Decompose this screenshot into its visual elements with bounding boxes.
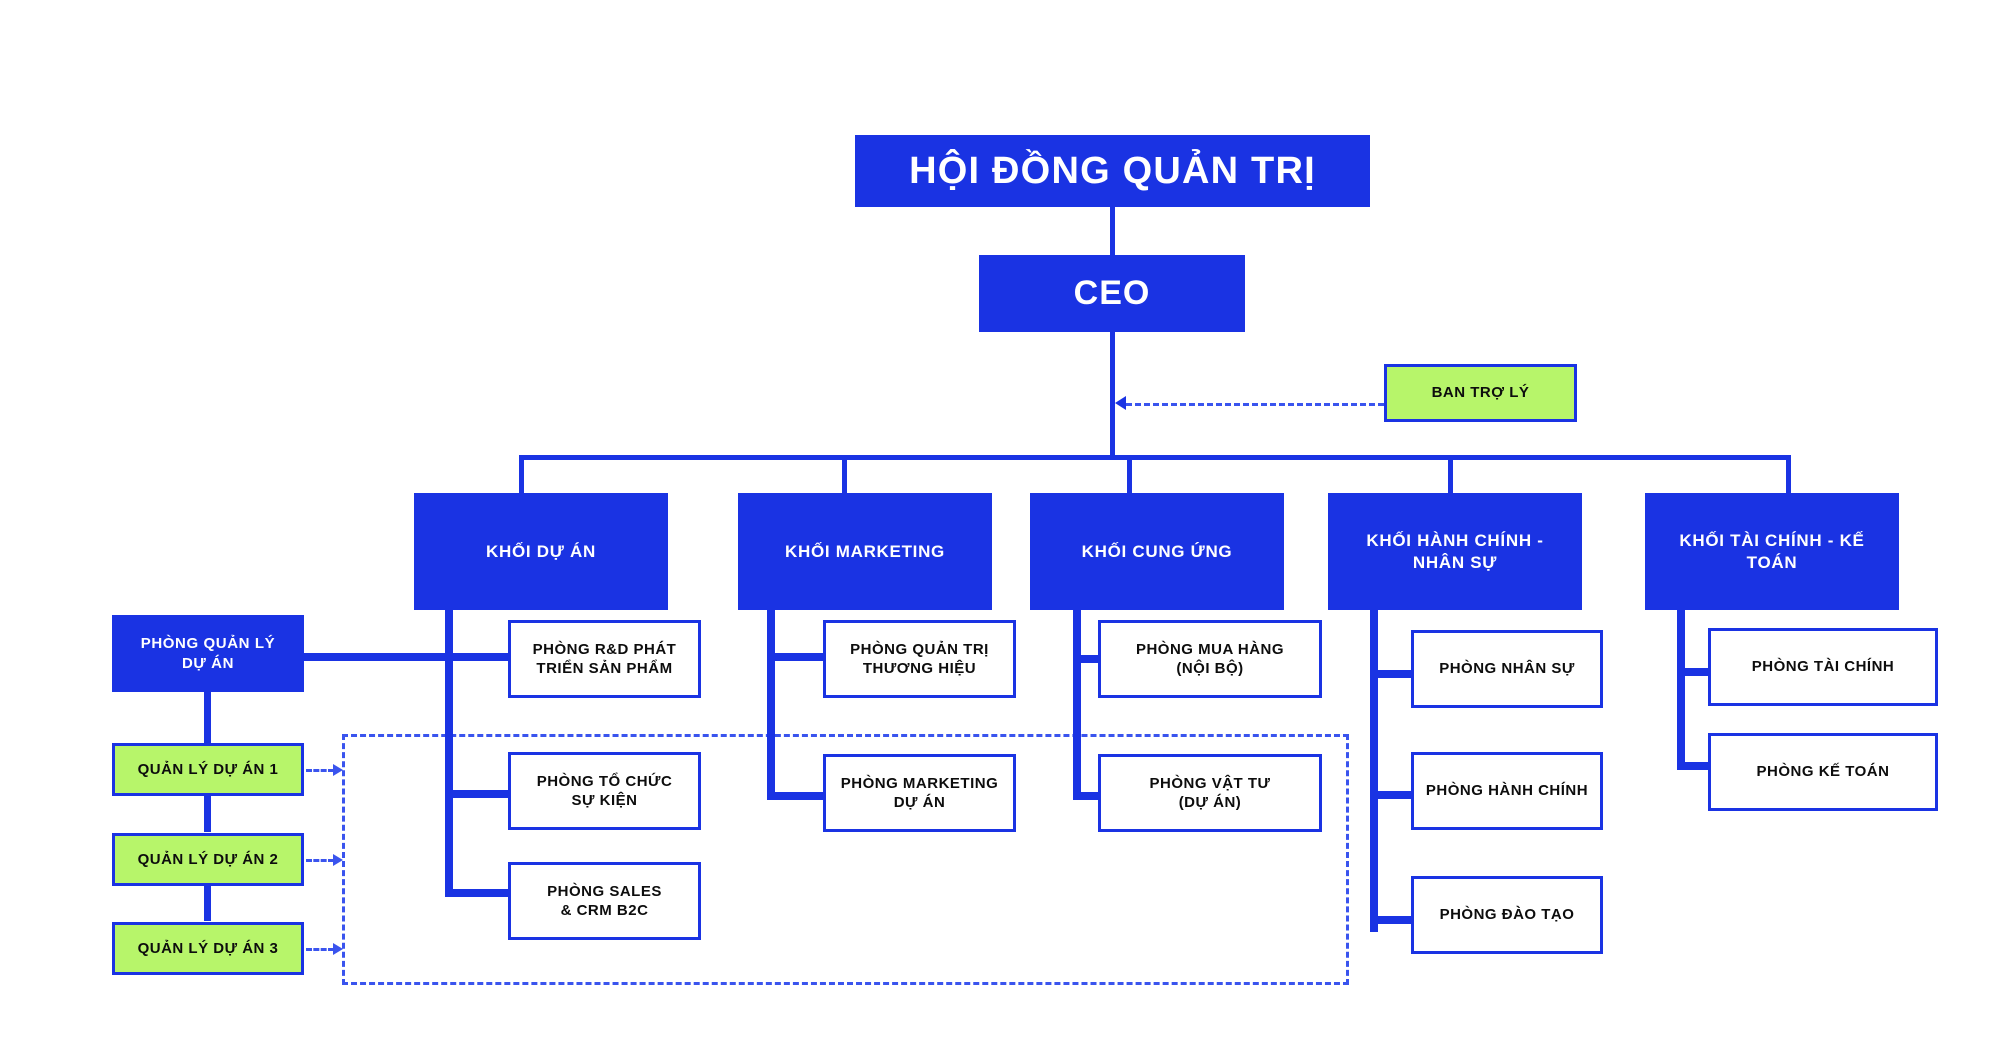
node-label: KHỐI DỰ ÁN	[486, 541, 596, 563]
node-project-manager-2[interactable]: QUẢN LÝ DỰ ÁN 2	[112, 833, 304, 886]
connector-drop-cung-ung	[1127, 455, 1132, 493]
node-ceo[interactable]: CEO	[979, 255, 1245, 332]
node-label: PHÒNG HÀNH CHÍNH	[1426, 781, 1588, 800]
node-label: PHÒNG NHÂN SỰ	[1439, 659, 1575, 678]
connector-assistant-to-ceo	[1126, 403, 1384, 406]
node-dept-rd-phat-trien-san-pham[interactable]: PHÒNG R&D PHÁT TRIỂN SẢN PHẨM	[508, 620, 701, 698]
pm2-arrowhead-icon	[333, 854, 343, 866]
node-label: PHÒNG TỔ CHỨC SỰ KIỆN	[537, 772, 673, 810]
node-label: PHÒNG ĐÀO TẠO	[1440, 905, 1575, 924]
connector-du-an-to-rd	[445, 653, 510, 661]
node-label: PHÒNG R&D PHÁT TRIỂN SẢN PHẨM	[533, 640, 677, 678]
spine-marketing	[767, 610, 775, 800]
connector-hanh-chinh-to-hanh-chinh	[1370, 791, 1414, 799]
node-dept-hanh-chinh[interactable]: PHÒNG HÀNH CHÍNH	[1411, 752, 1603, 830]
node-project-manager-1[interactable]: QUẢN LÝ DỰ ÁN 1	[112, 743, 304, 796]
node-board-of-directors[interactable]: HỘI ĐỒNG QUẢN TRỊ	[855, 135, 1370, 207]
connector-du-an-to-to-chuc-su-kien	[445, 790, 510, 798]
pm1-arrowhead-icon	[333, 764, 343, 776]
node-dept-mua-hang-noi-bo[interactable]: PHÒNG MUA HÀNG (NỘI BỘ)	[1098, 620, 1322, 698]
connector-cung-ung-to-vat-tu	[1073, 792, 1101, 800]
node-dept-sales-crm-b2c[interactable]: PHÒNG SALES & CRM B2C	[508, 862, 701, 940]
connector-marketing-to-quan-tri-thuong-hieu	[767, 653, 825, 661]
connector-marketing-to-marketing-du-an	[767, 792, 825, 800]
connector-drop-du-an	[519, 455, 524, 493]
connector-tai-chinh-to-phong-ke-toan	[1677, 762, 1711, 770]
node-division-du-an[interactable]: KHỐI DỰ ÁN	[414, 493, 668, 610]
connector-drop-hanh-chinh	[1448, 455, 1453, 493]
node-dept-quan-tri-thuong-hieu[interactable]: PHÒNG QUẢN TRỊ THƯƠNG HIỆU	[823, 620, 1016, 698]
spine-tai-chinh	[1677, 610, 1685, 770]
spine-cung-ung	[1073, 610, 1081, 800]
connector-du-an-to-sales-crm	[445, 889, 510, 897]
pm3-arrowhead-icon	[333, 943, 343, 955]
node-label: PHÒNG KẾ TOÁN	[1757, 762, 1890, 781]
node-dept-vat-tu-du-an[interactable]: PHÒNG VẬT TƯ (DỰ ÁN)	[1098, 754, 1322, 832]
connector-division-bus	[519, 455, 1791, 460]
node-division-tai-chinh-ke-toan[interactable]: KHỐI TÀI CHÍNH - KẾ TOÁN	[1645, 493, 1899, 610]
node-dept-marketing-du-an[interactable]: PHÒNG MARKETING DỰ ÁN	[823, 754, 1016, 832]
connector-quan-ly-chain	[204, 692, 211, 743]
node-label: QUẢN LÝ DỰ ÁN 1	[138, 760, 279, 779]
node-dept-nhan-su[interactable]: PHÒNG NHÂN SỰ	[1411, 630, 1603, 708]
connector-pm2-to-scope	[306, 859, 334, 862]
node-label: CEO	[1074, 272, 1151, 316]
node-label: QUẢN LÝ DỰ ÁN 2	[138, 850, 279, 869]
node-division-marketing[interactable]: KHỐI MARKETING	[738, 493, 992, 610]
node-dept-to-chuc-su-kien[interactable]: PHÒNG TỔ CHỨC SỰ KIỆN	[508, 752, 701, 830]
node-dept-phong-quan-ly-du-an[interactable]: PHÒNG QUẢN LÝ DỰ ÁN	[112, 615, 304, 692]
node-dept-tai-chinh[interactable]: PHÒNG TÀI CHÍNH	[1708, 628, 1938, 706]
org-chart-canvas: HỘI ĐỒNG QUẢN TRỊ CEO BAN TRỢ LÝ KHỐI DỰ…	[0, 0, 2000, 1050]
connector-du-an-to-quan-ly-du-an	[300, 653, 453, 661]
connector-hanh-chinh-to-nhan-su	[1370, 670, 1414, 678]
node-assistant-board[interactable]: BAN TRỢ LÝ	[1384, 364, 1577, 422]
node-label: QUẢN LÝ DỰ ÁN 3	[138, 939, 279, 958]
node-division-cung-ung[interactable]: KHỐI CUNG ỨNG	[1030, 493, 1284, 610]
node-label: KHỐI TÀI CHÍNH - KẾ TOÁN	[1679, 530, 1864, 574]
node-label: PHÒNG MARKETING DỰ ÁN	[841, 774, 999, 812]
assistant-arrowhead-icon	[1115, 396, 1126, 410]
connector-pm3-to-scope	[306, 948, 334, 951]
node-label: PHÒNG QUẢN LÝ DỰ ÁN	[141, 634, 275, 672]
spine-hanh-chinh	[1370, 610, 1378, 932]
node-label: HỘI ĐỒNG QUẢN TRỊ	[909, 147, 1316, 196]
node-label: KHỐI HÀNH CHÍNH - NHÂN SỰ	[1366, 530, 1543, 574]
node-label: PHÒNG MUA HÀNG (NỘI BỘ)	[1136, 640, 1284, 678]
connector-pm1-to-scope	[306, 769, 334, 772]
node-dept-dao-tao[interactable]: PHÒNG ĐÀO TẠO	[1411, 876, 1603, 954]
connector-tai-chinh-to-phong-tai-chinh	[1677, 668, 1711, 676]
node-label: PHÒNG TÀI CHÍNH	[1752, 657, 1895, 676]
node-division-hanh-chinh-nhan-su[interactable]: KHỐI HÀNH CHÍNH - NHÂN SỰ	[1328, 493, 1582, 610]
connector-ceo-spine	[1110, 332, 1115, 458]
connector-drop-tai-chinh	[1786, 455, 1791, 493]
node-label: KHỐI MARKETING	[785, 541, 945, 563]
node-label: PHÒNG VẬT TƯ (DỰ ÁN)	[1150, 774, 1271, 812]
connector-hanh-chinh-to-dao-tao	[1370, 916, 1414, 924]
node-dept-ke-toan[interactable]: PHÒNG KẾ TOÁN	[1708, 733, 1938, 811]
node-label: PHÒNG SALES & CRM B2C	[547, 882, 662, 920]
node-label: BAN TRỢ LÝ	[1432, 383, 1530, 402]
node-label: PHÒNG QUẢN TRỊ THƯƠNG HIỆU	[850, 640, 989, 678]
node-project-manager-3[interactable]: QUẢN LÝ DỰ ÁN 3	[112, 922, 304, 975]
connector-board-to-ceo	[1110, 207, 1115, 255]
node-label: KHỐI CUNG ỨNG	[1082, 541, 1233, 563]
connector-cung-ung-to-mua-hang	[1073, 655, 1101, 663]
connector-drop-marketing	[842, 455, 847, 493]
